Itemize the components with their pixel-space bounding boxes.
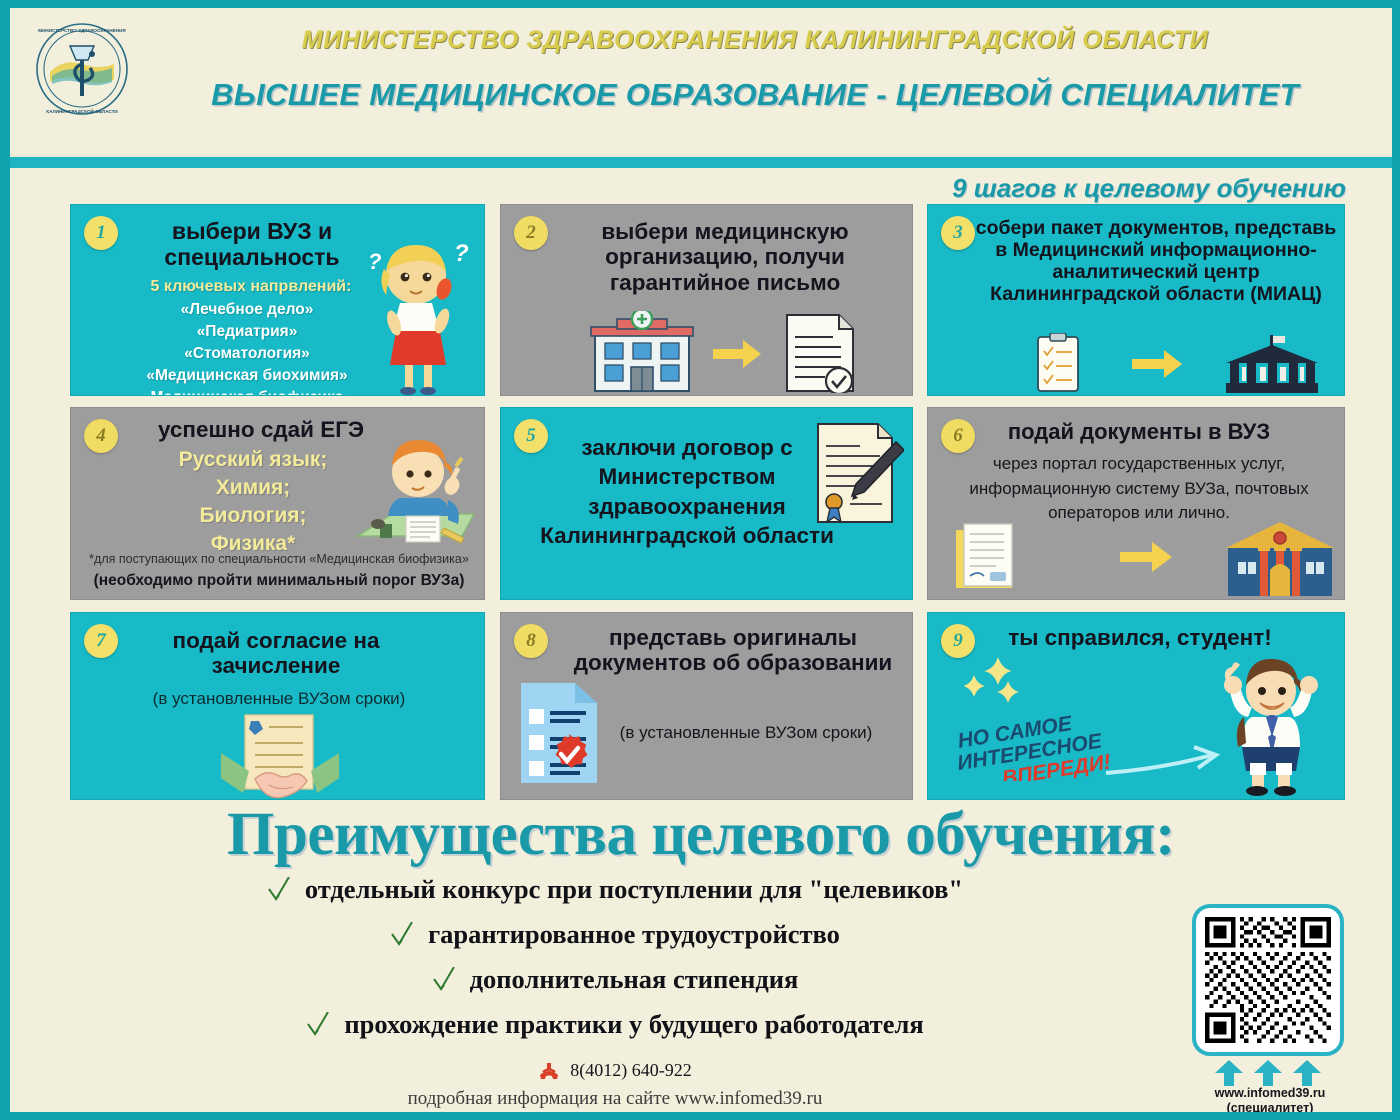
documents-folder-icon — [956, 524, 1012, 588]
header-divider — [10, 154, 1392, 168]
site-info-line: подробная информация на сайте www.infome… — [10, 1088, 1220, 1110]
step-number-badge: 1 — [84, 216, 118, 250]
step-title: подай документы в ВУЗ — [954, 420, 1324, 445]
step-title: собери пакет документов, представь в Мед… — [972, 217, 1340, 305]
step-number-badge: 7 — [84, 624, 118, 658]
list-item: дополнительная стипендия — [10, 964, 1220, 995]
sparkles-icon — [964, 657, 1044, 709]
page-title: ВЫСШЕЕ МЕДИЦИНСКОЕ ОБРАЗОВАНИЕ - ЦЕЛЕВОЙ… — [140, 77, 1370, 113]
step-note: (в установленные ВУЗом сроки) — [591, 723, 901, 743]
advantages-title: Преимущества целевого обучения: — [10, 800, 1392, 870]
list-item: Химия; — [113, 474, 393, 502]
arrow-right-icon — [713, 340, 761, 368]
exam-subjects-list: Русский язык; Химия; Биология; Физика* — [113, 446, 393, 558]
svg-text:?: ? — [368, 249, 381, 274]
list-item: гарантированное трудоустройство — [10, 919, 1220, 950]
boy-celebrating-icon — [1216, 651, 1326, 797]
step-title: подай согласие на зачисление — [126, 628, 426, 679]
phone-row: 8(4012) 640-922 — [10, 1060, 1220, 1081]
step-body: через портал государственных услуг, инфо… — [944, 452, 1334, 526]
government-building-icon — [1226, 335, 1318, 393]
step-card-1: 1 выбери ВУЗ и специальность 5 ключевых … — [70, 204, 485, 396]
arrow-right-icon — [1132, 350, 1182, 378]
check-mark-icon — [432, 967, 456, 993]
advantage-text: прохождение практики у будущего работода… — [344, 1009, 923, 1040]
check-mark-icon — [267, 877, 291, 903]
ministry-seal-icon: МИНИСТЕРСТВО ЗДРАВООХРАНЕНИЯ КАЛИНИНГРАД… — [30, 20, 134, 118]
step-note: (необходимо пройти минимальный порог ВУЗ… — [79, 572, 479, 590]
step-subtitle: 5 ключевых напрвлений: — [101, 278, 401, 296]
boy-studying-icon — [352, 432, 482, 562]
step-6-icons — [942, 518, 1342, 598]
hospital-building-icon — [591, 311, 693, 391]
step-card-8: 8 представь оригиналы документов об обра… — [500, 612, 913, 800]
advantages-list: отдельный конкурс при поступлении для "ц… — [10, 874, 1220, 1054]
advantage-text: отдельный конкурс при поступлении для "ц… — [305, 874, 963, 905]
svg-text:?: ? — [454, 240, 469, 267]
step-card-7: 7 подай согласие на зачисление (в устано… — [70, 612, 485, 800]
arrow-right-icon — [1120, 542, 1172, 572]
steps-grid: 1 выбери ВУЗ и специальность 5 ключевых … — [70, 204, 1350, 804]
step-2-icons — [581, 311, 881, 393]
phone-number[interactable]: 8(4012) 640-922 — [570, 1060, 691, 1081]
step-card-6: 6 подай документы в ВУЗ через портал гос… — [927, 407, 1345, 600]
step-title: ты справился, студент! — [990, 625, 1290, 650]
telephone-icon — [538, 1061, 560, 1081]
checklist-verified-icon — [517, 681, 603, 785]
svg-text:МИНИСТЕРСТВО ЗДРАВООХРАНЕНИЯ: МИНИСТЕРСТВО ЗДРАВООХРАНЕНИЯ — [38, 28, 125, 33]
qr-label-line-1: www.infomed39.ru — [1182, 1086, 1358, 1101]
svg-text:КАЛИНИНГРАДСКОЙ ОБЛАСТИ: КАЛИНИНГРАДСКОЙ ОБЛАСТИ — [46, 107, 117, 114]
step-card-9: 9 ты справился, студент! НО САМОЕ ИНТЕРЕ… — [927, 612, 1345, 800]
poster: МИНИСТЕРСТВО ЗДРАВООХРАНЕНИЯ КАЛИНИНГРАД… — [10, 8, 1392, 1112]
document-approved-icon — [787, 315, 853, 393]
step-title: выбери медицинскую организацию, получи г… — [549, 219, 901, 295]
qr-label: www.infomed39.ru (специалитет) — [1182, 1086, 1358, 1112]
arrow-right-icon — [1104, 741, 1224, 781]
girl-thinking-icon: ? ? — [358, 235, 478, 395]
clipboard-checklist-icon — [1038, 333, 1078, 391]
step-title: заключи договор с Министерством здравоох… — [531, 433, 843, 550]
list-item: прохождение практики у будущего работода… — [10, 1009, 1220, 1040]
step-note: (в установленные ВУЗом сроки) — [91, 689, 467, 709]
header-titles: МИНИСТЕРСТВО ЗДРАВООХРАНЕНИЯ КАЛИНИНГРАД… — [140, 26, 1370, 113]
steps-heading: 9 шагов к целевому обучению — [952, 173, 1346, 204]
step-card-3: 3 собери пакет документов, представь в М… — [927, 204, 1345, 396]
university-building-icon — [1226, 522, 1334, 596]
step-number-badge: 9 — [941, 624, 975, 658]
step-title: выбери ВУЗ и специальность — [123, 218, 381, 270]
list-item: Биология; — [113, 502, 393, 530]
step-3-icons — [1028, 333, 1328, 395]
step-card-2: 2 выбери медицинскую организацию, получи… — [500, 204, 913, 396]
advantage-text: дополнительная стипендия — [470, 964, 799, 995]
contract-with-pen-icon — [812, 420, 904, 528]
arrow-up-icon — [1206, 1060, 1330, 1086]
check-mark-icon — [390, 922, 414, 948]
handshake-certificate-icon — [221, 713, 339, 800]
advantage-text: гарантированное трудоустройство — [428, 919, 840, 950]
step-title: представь оригиналы документов об образо… — [573, 625, 893, 676]
list-item: отдельный конкурс при поступлении для "ц… — [10, 874, 1220, 905]
step-number-badge: 3 — [941, 216, 975, 250]
step-card-4: 4 успешно сдай ЕГЭ Русский язык; Химия; … — [70, 407, 485, 600]
qr-label-line-2: (специалитет) — [1182, 1101, 1358, 1112]
check-mark-icon — [306, 1012, 330, 1038]
qr-code-icon[interactable] — [1192, 904, 1344, 1056]
list-item: Русский язык; — [113, 446, 393, 474]
step-number-badge: 8 — [514, 624, 548, 658]
ministry-name: МИНИСТЕРСТВО ЗДРАВООХРАНЕНИЯ КАЛИНИНГРАД… — [140, 26, 1370, 55]
step-number-badge: 2 — [514, 216, 548, 250]
step-card-5: 5 заключи договор с Министерством здраво… — [500, 407, 913, 600]
